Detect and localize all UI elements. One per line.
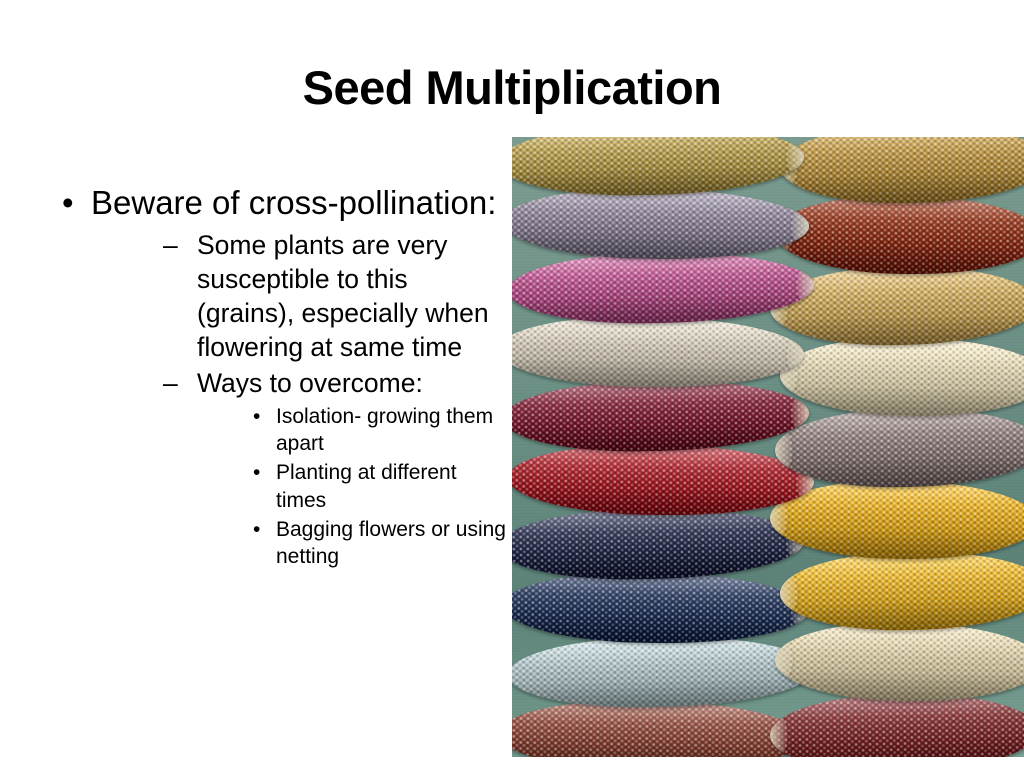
corn-cob [512,443,815,518]
list-item-label: Isolation- growing them apart [276,405,493,455]
list-item: • Planting at different times [249,459,510,514]
multicolored-maize-cobs-photo [512,137,1024,757]
corn-cob [512,250,815,326]
corn-cob [512,634,815,710]
bullet-dot-icon: • [253,516,260,543]
slide-canvas: Seed Multiplication • Beware of cross-po… [0,0,1024,768]
list-item-label: Beware of cross-pollination: [91,184,496,221]
list-item: • Isolation- growing them apart [249,403,510,458]
corn-cob [512,137,805,198]
list-item: • Beware of cross-pollination: – Some pl… [44,182,510,571]
slide-body-content: • Beware of cross-pollination: – Some pl… [44,182,510,573]
bullet-dot-icon: • [253,459,260,486]
corn-cob-tip [791,204,810,250]
bullet-dash-icon: – [163,228,178,262]
list-item-label: Planting at different times [276,461,457,511]
corn-cob [512,378,810,454]
list-item-label: Bagging flowers or using netting [276,518,506,568]
bullet-list-level-3: • Isolation- growing them apart • Planti… [197,403,510,571]
corn-cob [512,571,810,646]
page-title: Seed Multiplication [0,62,1024,115]
list-item: – Some plants are very susceptible to th… [151,228,510,365]
corn-cob [512,506,805,582]
corn-cob [512,315,805,390]
corn-cob [779,336,1024,418]
list-item-label: Ways to overcome: [197,368,423,398]
list-item: • Bagging flowers or using netting [249,516,510,571]
corn-cob [774,407,1024,490]
corn-cob [512,187,810,262]
bullet-list-level-1: • Beware of cross-pollination: – Some pl… [44,182,510,571]
photo-cob-column-right [780,137,1024,757]
corn-cob [774,621,1024,703]
photo-cob-column-left [512,137,798,757]
list-item: – Ways to overcome: • Isolation- growing… [151,366,510,571]
bullet-list-level-2: – Some plants are very susceptible to th… [91,228,510,571]
bullet-dot-icon: • [253,403,260,430]
corn-cob-tip [786,137,805,180]
list-item-label: Some plants are very susceptible to this… [197,230,489,363]
corn-cob [774,194,1024,276]
bullet-dot-icon: • [62,182,74,224]
corn-cob-tip [769,710,788,757]
corn-cob [779,549,1024,632]
corn-cob [779,137,1024,206]
bullet-dash-icon: – [163,366,178,400]
